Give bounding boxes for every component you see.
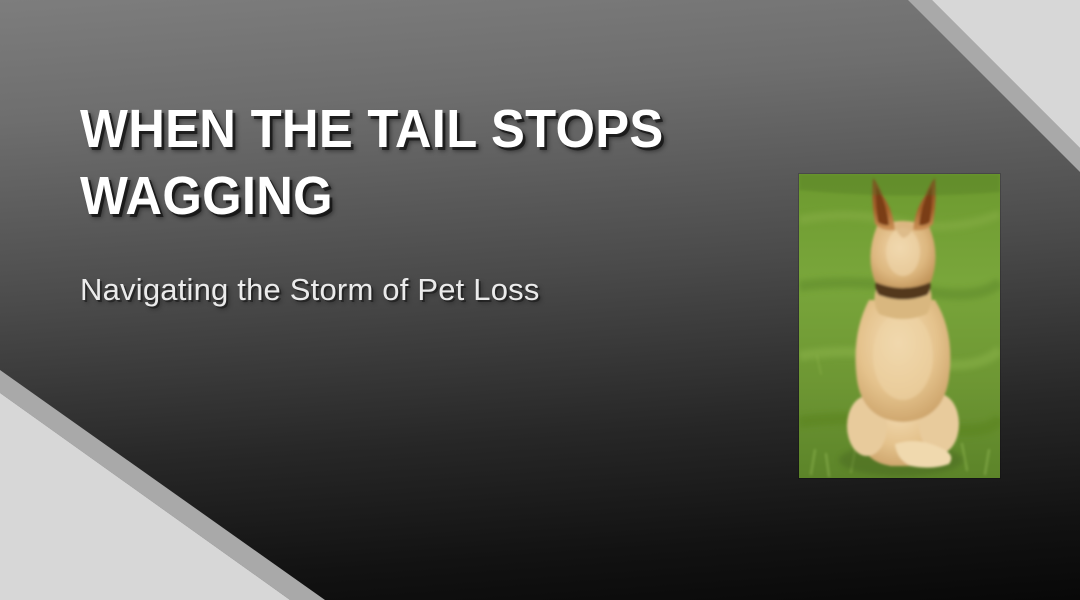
title-text-block: WHEN THE TAIL STOPS WAGGING Navigating t… <box>80 96 740 310</box>
title-slide: WHEN THE TAIL STOPS WAGGING Navigating t… <box>0 0 1080 600</box>
dog-photo-illustration <box>799 174 1000 478</box>
slide-title: WHEN THE TAIL STOPS WAGGING <box>80 96 700 230</box>
dog-photo <box>799 174 1000 478</box>
slide-subtitle: Navigating the Storm of Pet Loss <box>80 230 740 310</box>
